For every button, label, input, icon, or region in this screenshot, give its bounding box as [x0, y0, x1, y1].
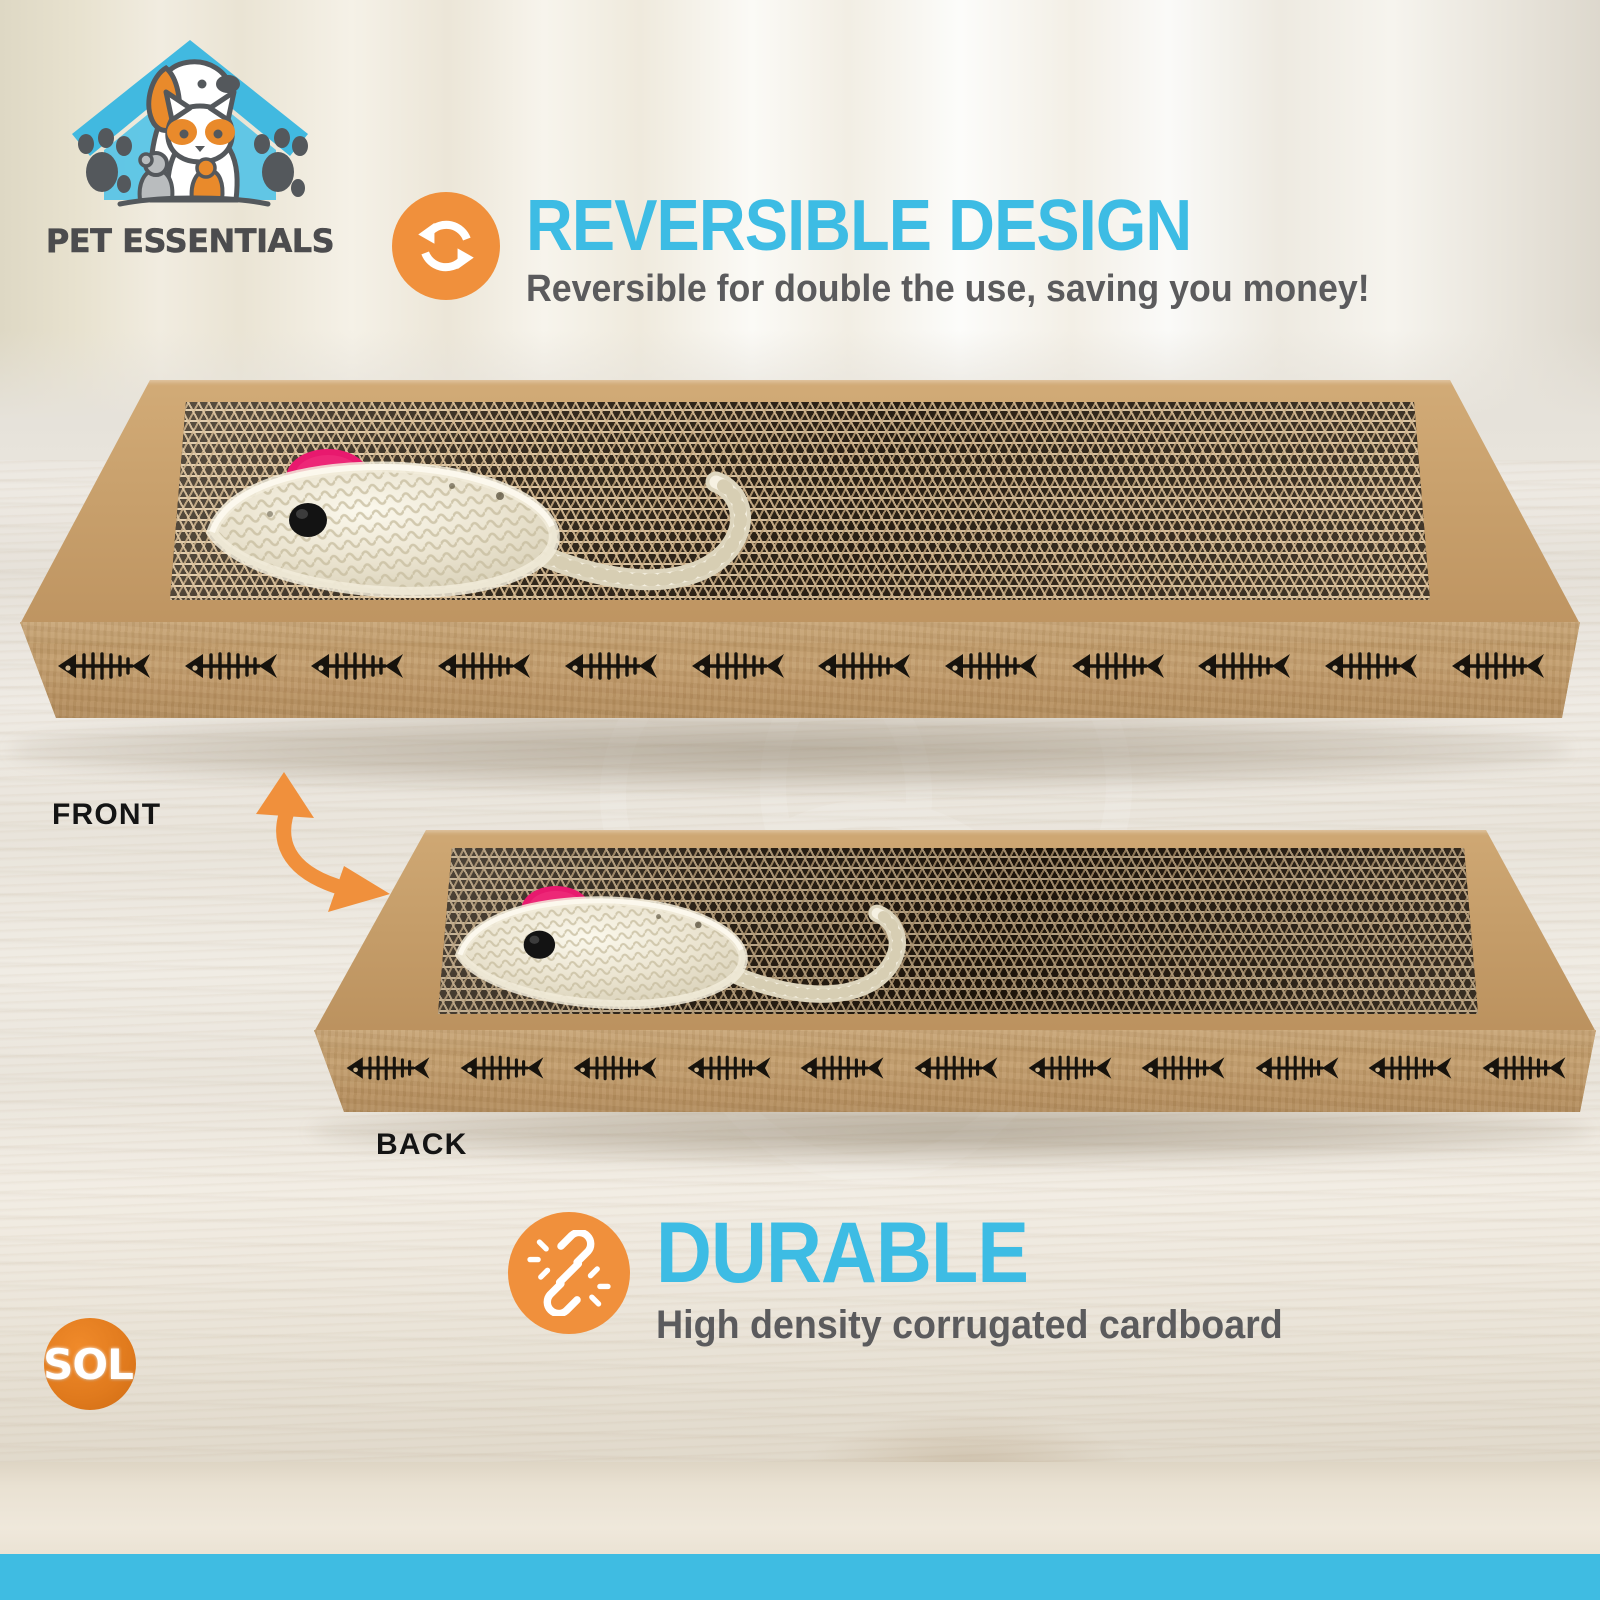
feature-subtitle: High density corrugated cardboard: [656, 1303, 1283, 1347]
pad-front-band: [20, 622, 1580, 718]
fishbone-icon: [1026, 1050, 1114, 1086]
fishbone-icon: [1366, 1050, 1454, 1086]
product-infographic: PET ESSENTIALS REVERSIBLE DESIGN Reversi…: [0, 0, 1600, 1600]
fishbone-icon: [571, 1050, 659, 1086]
fishbone-icon: [943, 646, 1039, 686]
sol-badge-text: SOL: [28, 1340, 148, 1389]
fishbone-icon: [912, 1050, 1000, 1086]
fishbone-icon: [816, 646, 912, 686]
fishbone-icon: [1323, 646, 1419, 686]
fishbone-icon: [344, 1050, 432, 1086]
pad-front-band: [314, 1030, 1596, 1112]
feature-durable: DURABLE High density corrugated cardboar…: [508, 1212, 1323, 1347]
fishbone-icon: [56, 646, 152, 686]
feature-subtitle: Reversible for double the use, saving yo…: [526, 269, 1370, 311]
refresh-cycle-icon: [392, 192, 500, 300]
fishbone-icon: [798, 1050, 886, 1086]
bottom-accent-bar: [0, 1554, 1600, 1600]
fishbone-icon: [690, 646, 786, 686]
sisal-rope-mouse-toy[interactable]: [200, 440, 780, 620]
fishbone-pattern-row: [344, 1050, 1568, 1086]
fishbone-icon: [309, 646, 405, 686]
fishbone-icon: [563, 646, 659, 686]
chain-link-icon: [508, 1212, 630, 1334]
label-back: BACK: [376, 1128, 467, 1162]
brand-logo: PET ESSENTIALS: [40, 22, 340, 272]
fishbone-icon: [1480, 1050, 1568, 1086]
feature-reversible-design: REVERSIBLE DESIGN Reversible for double …: [392, 192, 1423, 311]
double-curved-flip-arrow-icon: [232, 766, 422, 926]
brand-name: PET ESSENTIALS: [40, 222, 340, 260]
scratcher-pad-front[interactable]: [0, 380, 1600, 780]
sisal-rope-mouse-toy[interactable]: [450, 878, 930, 1028]
fishbone-icon: [1450, 646, 1546, 686]
label-front: FRONT: [52, 798, 161, 832]
feature-title: REVERSIBLE DESIGN: [526, 192, 1334, 261]
fishbone-icon: [685, 1050, 773, 1086]
fishbone-icon: [1139, 1050, 1227, 1086]
fishbone-icon: [1070, 646, 1166, 686]
fishbone-icon: [1196, 646, 1292, 686]
fishbone-icon: [183, 646, 279, 686]
fishbone-icon: [436, 646, 532, 686]
pet-house-logo-icon: [40, 22, 340, 232]
feature-title: DURABLE: [656, 1212, 1256, 1295]
fishbone-icon: [458, 1050, 546, 1086]
fishbone-pattern-row: [56, 646, 1546, 686]
sol-seller-badge: SOL: [28, 1306, 148, 1426]
scratcher-pad-back[interactable]: [300, 830, 1600, 1160]
fishbone-icon: [1253, 1050, 1341, 1086]
